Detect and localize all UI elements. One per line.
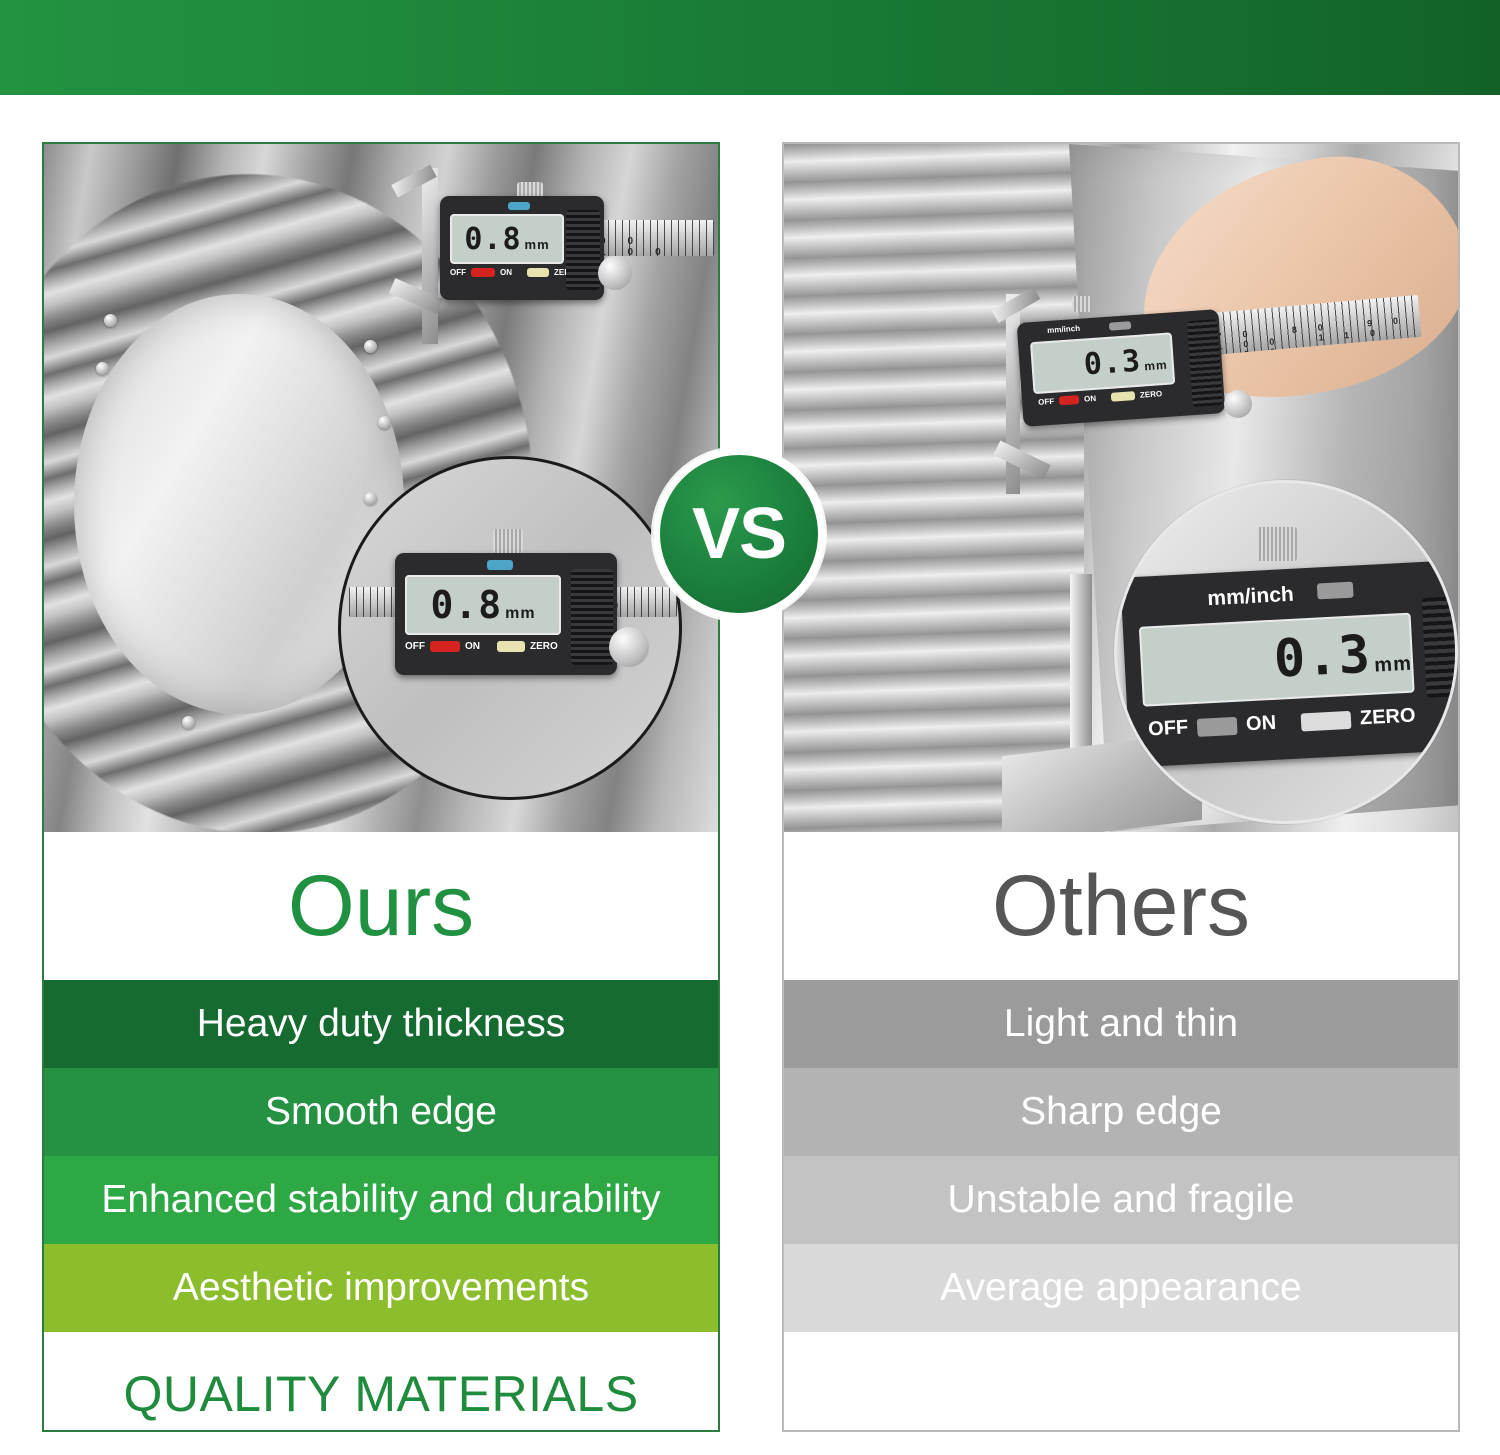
others-panel: 70 80 90 100 110 120 mm/inch 0.3mm OFF — [782, 142, 1460, 1432]
caliper-power-switch[interactable] — [1059, 395, 1080, 405]
others-feature-row-3: Unstable and fragile — [784, 1156, 1458, 1244]
ours-feature-row-1: Heavy duty thickness — [44, 980, 718, 1068]
ours-footer-row: QUALITY MATERIALS — [44, 1332, 718, 1432]
others-heading: Others — [784, 832, 1458, 980]
corrugated-background-shape — [784, 144, 1084, 832]
others-feature-label-2: Sharp edge — [1020, 1090, 1222, 1134]
magnifier-button-row: OFF ON ZERO — [405, 641, 558, 652]
caliper-body: mm/inch 0.3mm OFF ON ZERO — [1017, 309, 1226, 427]
magnifier-zero-switch[interactable] — [497, 641, 525, 652]
top-gradient-banner — [0, 0, 1500, 95]
others-magnifier-inset: mm/inch 0.3mm OFF ON ZERO — [1114, 480, 1458, 824]
ours-magnifier-inset: 90 0.8mm OFF ON ZERO — [338, 456, 682, 800]
ours-feature-label-4: Aesthetic improvements — [173, 1266, 589, 1310]
magnifier-blue-button[interactable] — [487, 560, 513, 570]
magnifier-reading: 0.3mm — [1272, 623, 1412, 690]
magnifier-reading: 0.8mm — [430, 583, 535, 627]
magnifier-on-label: ON — [1246, 712, 1277, 737]
magnifier-zero-label: ZERO — [530, 641, 558, 652]
magnifier-power-switch[interactable] — [1197, 716, 1238, 736]
caliper-display: 0.8mm — [450, 214, 564, 264]
magnifier-caliper-body: mm/inch 0.3mm OFF ON ZERO — [1120, 560, 1458, 767]
others-footer-row — [784, 1332, 1458, 1432]
ours-product-photo: 90 100 110 0.8mm OFF ON — [44, 144, 718, 832]
caliper-off-label: OFF — [450, 268, 466, 277]
magnifier-power-switch[interactable] — [430, 641, 460, 652]
caliper-unit-button[interactable] — [1109, 321, 1132, 331]
magnifier-thumb-screw — [1257, 527, 1297, 561]
caliper-zero-switch[interactable] — [1111, 391, 1136, 402]
vs-badge: VS — [653, 448, 825, 620]
ours-heading-text: Ours — [288, 863, 474, 949]
ours-digital-caliper: 90 100 110 0.8mm OFF ON — [384, 168, 714, 348]
ours-heading: Ours — [44, 832, 718, 980]
caliper-blue-button[interactable] — [508, 202, 530, 210]
magnifier-button-row: OFF ON ZERO — [1148, 705, 1416, 742]
caliper-reading: 0.8mm — [464, 222, 549, 257]
magnifier-caliper-body: 0.8mm OFF ON ZERO — [395, 553, 617, 675]
ours-feature-label-3: Enhanced stability and durability — [101, 1178, 660, 1222]
magnifier-off-label: OFF — [405, 641, 425, 652]
comparison-container: 90 100 110 0.8mm OFF ON — [0, 95, 1500, 1455]
caliper-display: 0.3mm — [1030, 332, 1175, 394]
caliper-scale: 90 100 110 — [594, 220, 714, 256]
others-heading-text: Others — [992, 863, 1250, 949]
rivet-icon — [104, 314, 117, 327]
ours-feature-row-2: Smooth edge — [44, 1068, 718, 1156]
caliper-scale: 70 80 90 100 110 120 — [1209, 295, 1422, 355]
caliper-on-label: ON — [1084, 394, 1097, 404]
rivet-icon — [182, 716, 195, 729]
caliper-mm-inch-label: mm/inch — [1047, 324, 1080, 335]
others-feature-row-2: Sharp edge — [784, 1068, 1458, 1156]
magnifier-caliper-grip — [571, 569, 613, 665]
magnifier-caliper-grip — [1422, 596, 1458, 698]
caliper-jaw — [422, 168, 438, 344]
others-digital-caliper: 70 80 90 100 110 120 mm/inch 0.3mm OFF — [992, 284, 1412, 484]
magnifier-on-label: ON — [465, 641, 480, 652]
caliper-thumb-screw — [1072, 296, 1092, 312]
magnifier-zero-label: ZERO — [1359, 705, 1416, 731]
ours-panel: 90 100 110 0.8mm OFF ON — [42, 142, 720, 1432]
others-feature-label-1: Light and thin — [1004, 1002, 1238, 1046]
caliper-grip — [566, 210, 600, 290]
quality-materials-text: QUALITY MATERIALS — [123, 1365, 638, 1423]
caliper-reading: 0.3mm — [1083, 341, 1169, 382]
caliper-scale-numbers: 90 100 110 — [600, 236, 714, 256]
ours-feature-row-3: Enhanced stability and durability — [44, 1156, 718, 1244]
others-feature-label-4: Average appearance — [940, 1266, 1301, 1310]
rivet-icon — [96, 362, 109, 375]
caliper-off-label: OFF — [1038, 397, 1055, 407]
others-feature-label-3: Unstable and fragile — [948, 1178, 1295, 1222]
ours-feature-row-4: Aesthetic improvements — [44, 1244, 718, 1332]
magnifier-display: 0.3mm — [1139, 613, 1415, 707]
magnifier-zero-switch[interactable] — [1301, 710, 1352, 731]
magnifier-off-label: OFF — [1148, 716, 1189, 741]
others-feature-row-1: Light and thin — [784, 980, 1458, 1068]
magnifier-caliper-wheel[interactable] — [609, 627, 649, 667]
others-feature-row-4: Average appearance — [784, 1244, 1458, 1332]
caliper-wheel[interactable] — [598, 256, 632, 290]
magnifier-thumb-screw — [493, 529, 523, 553]
caliper-on-label: ON — [500, 268, 512, 277]
caliper-wheel[interactable] — [1224, 390, 1252, 418]
magnifier-mm-inch-label: mm/inch — [1207, 583, 1294, 611]
magnifier-display: 0.8mm — [405, 575, 561, 635]
caliper-lower-jaw — [993, 441, 1050, 480]
rivet-icon — [378, 416, 391, 429]
caliper-grip — [1187, 319, 1223, 407]
rivet-icon — [364, 340, 377, 353]
caliper-power-switch[interactable] — [471, 268, 495, 277]
vs-badge-label: VS — [692, 498, 786, 570]
caliper-body: 0.8mm OFF ON ZERO — [440, 196, 604, 300]
caliper-button-row: OFF ON ZERO — [450, 268, 576, 277]
others-product-photo: 70 80 90 100 110 120 mm/inch 0.3mm OFF — [784, 144, 1458, 832]
ours-feature-label-1: Heavy duty thickness — [197, 1002, 566, 1046]
magnifier-unit-button[interactable] — [1317, 582, 1354, 600]
caliper-zero-label: ZERO — [1140, 389, 1163, 400]
ours-feature-label-2: Smooth edge — [265, 1090, 497, 1134]
caliper-zero-switch[interactable] — [527, 268, 549, 277]
rivet-icon — [364, 492, 377, 505]
